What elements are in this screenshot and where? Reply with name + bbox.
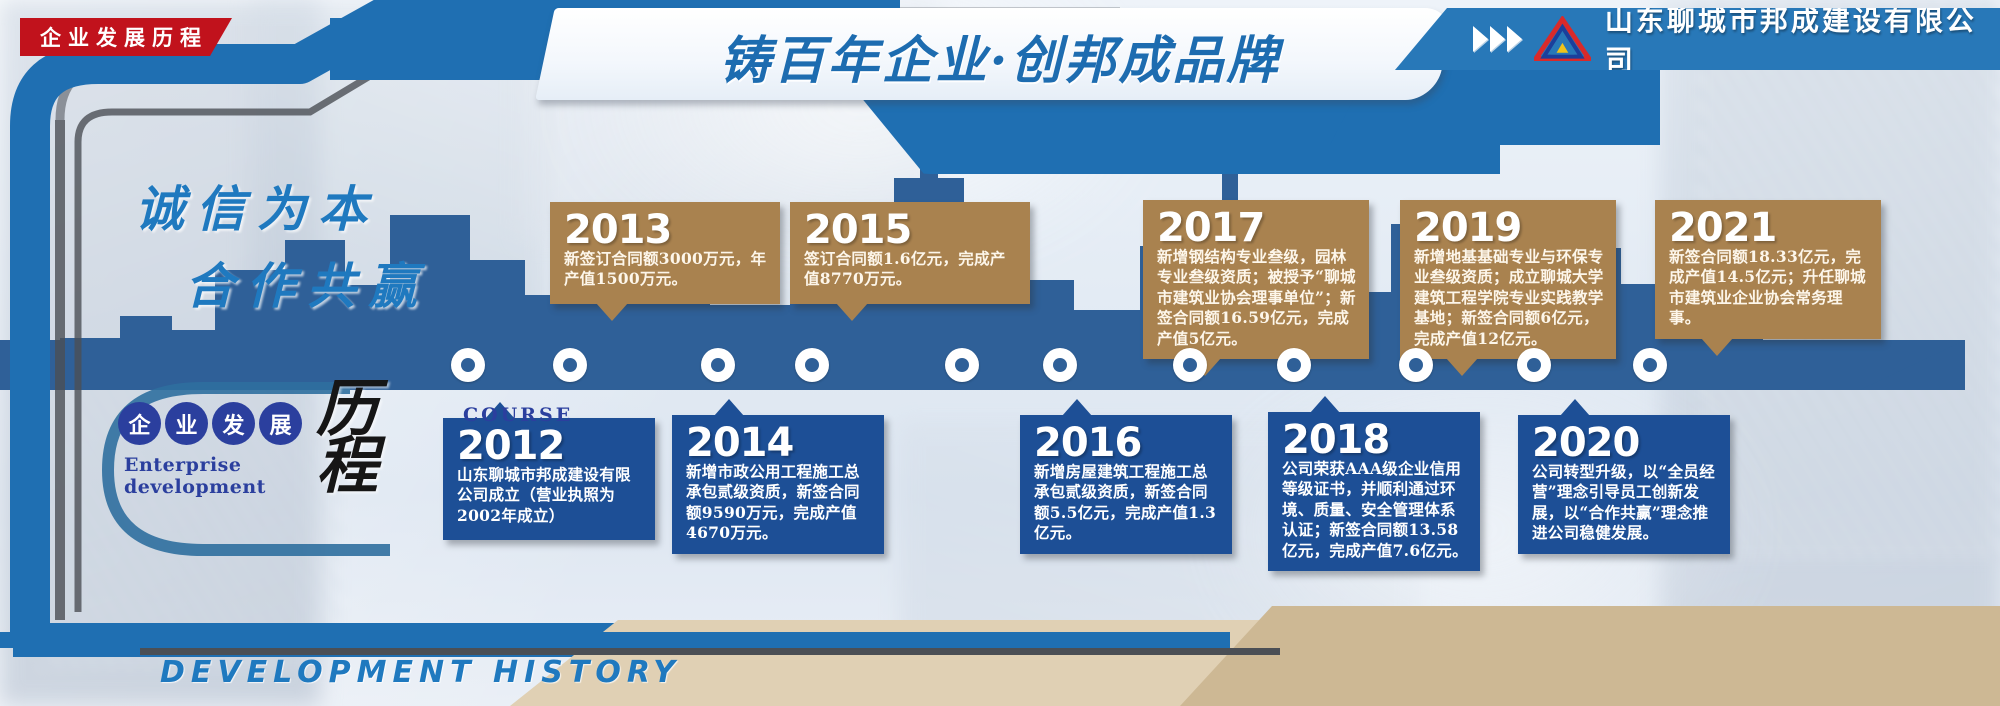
event-card-pointer <box>1701 338 1733 356</box>
timeline-axis-arrow <box>1860 340 1965 390</box>
header-red-tag: 企业发展历程 <box>20 18 232 56</box>
double-chevron-icon <box>1473 26 1522 52</box>
event-description: 新增房屋建筑工程施工总承包贰级资质，新签合同额5.5亿元，完成产值1.3亿元。 <box>1034 462 1220 544</box>
badge-course-label: COURSE <box>463 404 573 426</box>
event-card-pointer <box>714 399 744 416</box>
event-card-pointer <box>836 303 868 321</box>
timeline-node <box>1173 348 1207 382</box>
header-tag-label: 企业发展历程 <box>40 22 208 52</box>
timeline-event-card-2017[interactable]: 2017新增钢结构专业叁级，园林专业叁级资质；被授予“聊城市建筑业协会理事单位”… <box>1143 200 1369 359</box>
badge-circle-group: 企 业 发 展 <box>118 402 302 445</box>
timeline-node <box>1633 348 1667 382</box>
timeline-node <box>1517 348 1551 382</box>
badge-circle-2: 业 <box>165 402 208 445</box>
badge-english-label: Enterprise development <box>124 454 302 498</box>
event-card-pointer <box>1446 358 1478 376</box>
timeline-node-dot <box>1053 358 1067 372</box>
event-year-label: 2021 <box>1669 209 1869 247</box>
timeline-event-card-2016[interactable]: 2016新增房屋建筑工程施工总承包贰级资质，新签合同额5.5亿元，完成产值1.3… <box>1020 415 1232 554</box>
timeline-node-dot <box>711 358 725 372</box>
event-description: 新增市政公用工程施工总承包贰级资质，新签合同额9590万元，完成产值4670万元… <box>686 462 872 544</box>
bottom-blue-bar <box>0 632 1230 648</box>
timeline-node <box>451 348 485 382</box>
development-history-label: DEVELOPMENT HISTORY <box>160 655 681 690</box>
timeline-event-card-2012[interactable]: 2012山东聊城市邦成建设有限公司成立（营业执照为2002年成立） <box>443 418 655 540</box>
bottom-dark-line <box>140 648 1280 655</box>
event-description: 新签合同额18.33亿元，完成产值14.5亿元；升任聊城市建筑业企业协会常务理事… <box>1669 247 1869 329</box>
timeline-node-dot <box>461 358 475 372</box>
timeline-event-card-2013[interactable]: 2013新签订合同额3000万元，年产值1500万元。 <box>550 202 780 304</box>
timeline-node <box>795 348 829 382</box>
timeline-node-dot <box>1409 358 1423 372</box>
timeline-axis-band <box>0 340 1965 390</box>
event-card-pointer <box>1310 396 1340 413</box>
event-description: 签订合同额1.6亿元，完成产值8770万元。 <box>804 249 1018 290</box>
timeline-node-dot <box>1287 358 1301 372</box>
event-description: 山东聊城市邦成建设有限公司成立（营业执照为2002年成立） <box>457 465 643 526</box>
timeline-event-card-2018[interactable]: 2018公司荣获AAA级企业信用等级证书，并顺利通过环境、质量、安全管理体系认证… <box>1268 412 1480 571</box>
timeline-event-card-2020[interactable]: 2020公司转型升级，以“全员经营”理念引导员工创新发展，以“合作共赢”理念推进… <box>1518 415 1730 554</box>
timeline-node-dot <box>1527 358 1541 372</box>
infographic-canvas: 企业发展历程 铸百年企业·创邦成品牌 山东聊城市邦成建设有限公司 诚信为本 合作… <box>0 0 2000 706</box>
timeline-node <box>1043 348 1077 382</box>
timeline-node <box>701 348 735 382</box>
company-name: 山东聊城市邦成建设有限公司 <box>1605 0 2000 79</box>
event-description: 公司转型升级，以“全员经营”理念引导员工创新发展，以“合作共赢”理念推进公司稳健… <box>1532 462 1718 544</box>
event-year-label: 2019 <box>1414 209 1604 247</box>
event-card-pointer <box>1062 399 1092 416</box>
event-card-pointer <box>1560 399 1590 416</box>
timeline-node-dot <box>1643 358 1657 372</box>
bottom-tan-wedge-dark <box>1180 606 2000 706</box>
enterprise-development-badge: 企 业 发 展 Enterprise development 历程 COURSE <box>118 402 302 445</box>
triangle-logo-icon <box>1534 16 1591 62</box>
badge-circle-1: 企 <box>118 402 161 445</box>
timeline-node-dot <box>1183 358 1197 372</box>
timeline-event-card-2019[interactable]: 2019新增地基基础专业与环保专业叁级资质；成立聊城大学建筑工程学院专业实践教学… <box>1400 200 1616 359</box>
badge-circle-4: 展 <box>259 402 302 445</box>
timeline-node <box>945 348 979 382</box>
slogan-line-2: 合作共赢 <box>185 247 429 318</box>
event-description: 新增地基基础专业与环保专业叁级资质；成立聊城大学建筑工程学院专业实践教学基地；新… <box>1414 247 1604 349</box>
timeline-node <box>1277 348 1311 382</box>
event-description: 新增钢结构专业叁级，园林专业叁级资质；被授予“聊城市建筑业协会理事单位”；新签合… <box>1157 247 1357 349</box>
event-year-label: 2017 <box>1157 209 1357 247</box>
timeline-event-card-2021[interactable]: 2021新签合同额18.33亿元，完成产值14.5亿元；升任聊城市建筑业企业协会… <box>1655 200 1881 339</box>
timeline-node-dot <box>805 358 819 372</box>
slogan-block: 诚信为本 合作共赢 <box>135 170 429 318</box>
timeline-node <box>1399 348 1433 382</box>
company-logo-strip: 山东聊城市邦成建设有限公司 <box>1395 8 2000 70</box>
event-year-label: 2014 <box>686 424 872 462</box>
main-title: 铸百年企业·创邦成品牌 <box>600 20 1400 92</box>
event-year-label: 2012 <box>457 427 643 465</box>
timeline-node <box>553 348 587 382</box>
event-card-pointer <box>596 303 628 321</box>
slogan-line-1: 诚信为本 <box>135 170 429 241</box>
event-year-label: 2020 <box>1532 424 1718 462</box>
event-year-label: 2018 <box>1282 421 1468 459</box>
timeline-event-card-2014[interactable]: 2014新增市政公用工程施工总承包贰级资质，新签合同额9590万元，完成产值46… <box>672 415 884 554</box>
event-description: 公司荣获AAA级企业信用等级证书，并顺利通过环境、质量、安全管理体系认证；新签合… <box>1282 459 1468 561</box>
event-year-label: 2016 <box>1034 424 1220 462</box>
badge-circle-3: 发 <box>212 402 255 445</box>
event-year-label: 2015 <box>804 211 1018 249</box>
timeline-node-dot <box>955 358 969 372</box>
badge-calligraphy: 历程 <box>316 380 378 494</box>
event-description: 新签订合同额3000万元，年产值1500万元。 <box>564 249 768 290</box>
timeline-event-card-2015[interactable]: 2015签订合同额1.6亿元，完成产值8770万元。 <box>790 202 1030 304</box>
timeline-node-dot <box>563 358 577 372</box>
event-year-label: 2013 <box>564 211 768 249</box>
